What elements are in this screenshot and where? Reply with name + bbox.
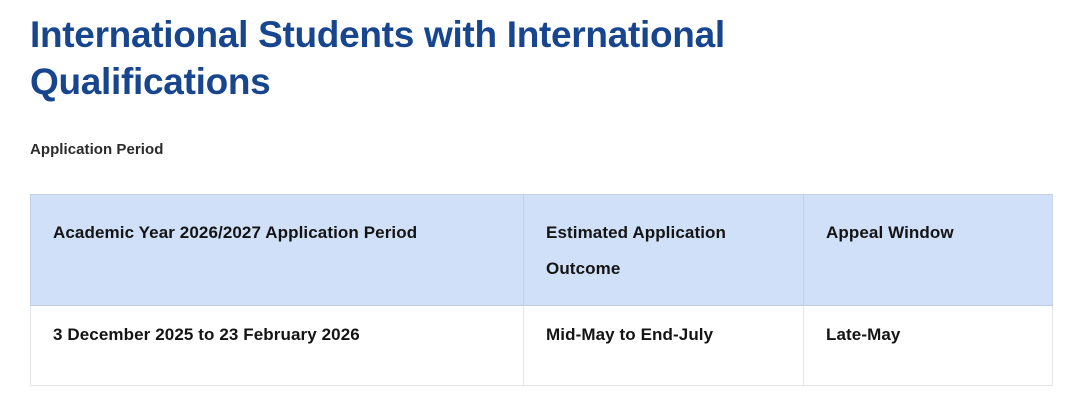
page-title: International Students with Internationa… [30, 11, 910, 105]
cell-appeal-window: Late-May [804, 306, 1053, 386]
table-body: 3 December 2025 to 23 February 2026 Mid-… [31, 306, 1053, 386]
cell-estimated-outcome: Mid-May to End-July [524, 306, 804, 386]
section-label-application-period: Application Period [30, 140, 163, 160]
column-header-application-period: Academic Year 2026/2027 Application Peri… [31, 195, 524, 306]
column-header-estimated-outcome: Estimated Application Outcome [524, 195, 804, 306]
table-header-row: Academic Year 2026/2027 Application Peri… [31, 195, 1053, 306]
application-period-table: Academic Year 2026/2027 Application Peri… [30, 194, 1053, 386]
column-header-appeal-window: Appeal Window [804, 195, 1053, 306]
table-row: 3 December 2025 to 23 February 2026 Mid-… [31, 306, 1053, 386]
application-period-table-wrapper: Academic Year 2026/2027 Application Peri… [30, 194, 1052, 386]
cell-application-period: 3 December 2025 to 23 February 2026 [31, 306, 524, 386]
page-root: International Students with Internationa… [0, 0, 1080, 407]
table-header: Academic Year 2026/2027 Application Peri… [31, 195, 1053, 306]
